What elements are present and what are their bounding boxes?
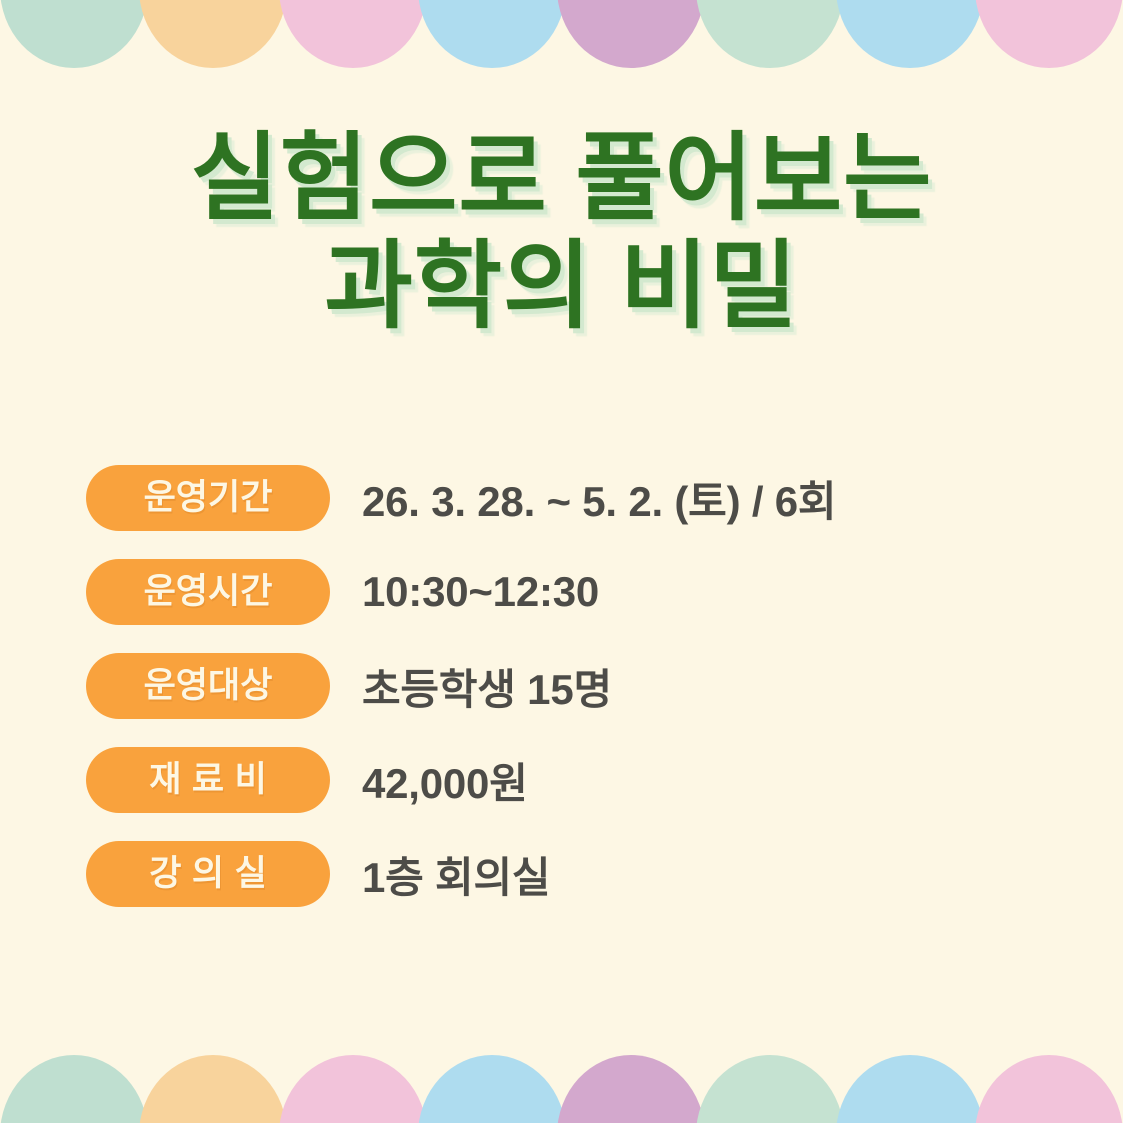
scallop-circle (139, 0, 287, 68)
title-line-2: 과학의 비밀 (0, 236, 1123, 338)
info-value: 42,000원 (362, 750, 1046, 811)
info-row: 강의실1층 회의실 (86, 834, 1046, 914)
info-label-badge: 강의실 (86, 841, 330, 907)
info-value: 초등학생 15명 (362, 656, 1046, 717)
scallop-circle (557, 1055, 705, 1123)
info-row: 운영시간10:30~12:30 (86, 552, 1046, 632)
scallop-circle (279, 1055, 427, 1123)
info-row: 운영대상초등학생 15명 (86, 646, 1046, 726)
scallop-circle (696, 1055, 844, 1123)
scallop-circle (139, 1055, 287, 1123)
scallop-circle (836, 1055, 984, 1123)
scallop-circle (0, 1055, 148, 1123)
info-value: 26. 3. 28. ~ 5. 2. (토) / 6회 (362, 468, 1046, 529)
info-row: 재료비42,000원 (86, 740, 1046, 820)
scallop-circle (557, 0, 705, 68)
info-label-badge: 운영시간 (86, 559, 330, 625)
top-scallop-border (0, 0, 1123, 68)
title-line-1: 실험으로 풀어보는 (0, 128, 1123, 230)
scallop-circle (836, 0, 984, 68)
scallop-circle (975, 0, 1123, 68)
bottom-scallop-border (0, 1055, 1123, 1123)
info-row: 운영기간26. 3. 28. ~ 5. 2. (토) / 6회 (86, 458, 1046, 538)
info-label-badge: 운영기간 (86, 465, 330, 531)
poster-title: 실험으로 풀어보는 과학의 비밀 (0, 128, 1123, 338)
scallop-circle (418, 0, 566, 68)
info-label-badge: 재료비 (86, 747, 330, 813)
scallop-circle (279, 0, 427, 68)
info-list: 운영기간26. 3. 28. ~ 5. 2. (토) / 6회운영시간10:30… (86, 458, 1046, 928)
scallop-circle (696, 0, 844, 68)
info-value: 10:30~12:30 (362, 568, 1046, 616)
scallop-circle (975, 1055, 1123, 1123)
poster-canvas: 실험으로 풀어보는 과학의 비밀 운영기간26. 3. 28. ~ 5. 2. … (0, 0, 1123, 1123)
scallop-circle (418, 1055, 566, 1123)
info-label-badge: 운영대상 (86, 653, 330, 719)
scallop-circle (0, 0, 148, 68)
info-value: 1층 회의실 (362, 844, 1046, 905)
